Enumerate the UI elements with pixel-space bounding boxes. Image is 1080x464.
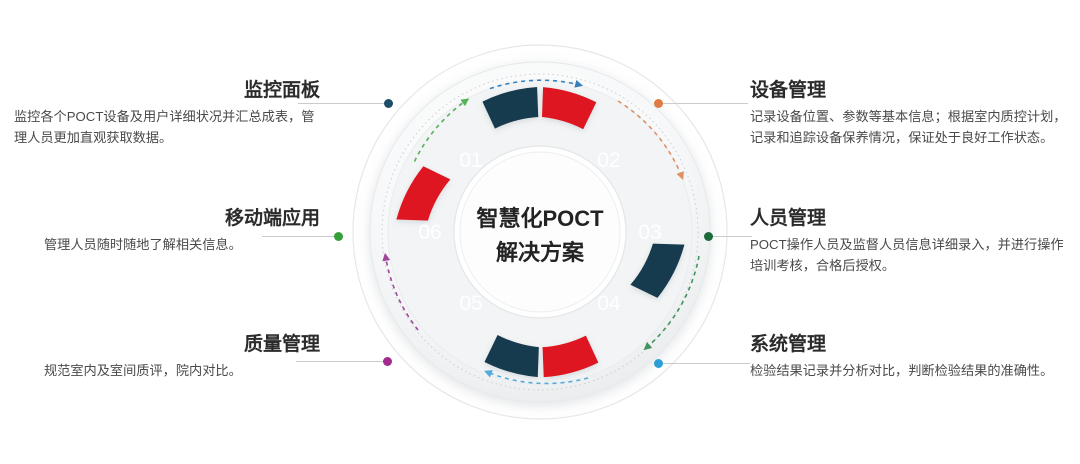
segment-number-01: 01 (459, 149, 482, 172)
info-body-monitoring-panel: 监控各个POCT设备及用户详细状况并汇总成表，管理人员更加直观获取数据。 (14, 106, 320, 149)
connector-dot-06 (334, 232, 343, 241)
wheel-svg: 01 02 03 04 05 06 智慧化POCT 解决方案 (330, 20, 750, 444)
info-block-monitoring-panel: 监控面板 监控各个POCT设备及用户详细状况并汇总成表，管理人员更加直观获取数据… (14, 80, 320, 149)
segment-number-03: 03 (638, 221, 661, 244)
info-body-mobile-app: 管理人员随时随地了解相关信息。 (44, 234, 320, 255)
segment-number-04: 04 (597, 292, 621, 315)
info-title-personnel-management: 人员管理 (750, 208, 1070, 230)
info-body-system-management: 检验结果记录并分析对比，判断检验结果的准确性。 (750, 360, 1070, 381)
connector-dot-04 (654, 359, 663, 368)
connector-line-03 (708, 236, 752, 237)
poct-wheel-diagram: 01 02 03 04 05 06 智慧化POCT 解决方案 (330, 20, 750, 444)
info-body-quality-management: 规范室内及室间质评，院内对比。 (44, 360, 320, 381)
connector-dot-01 (384, 99, 393, 108)
info-body-personnel-management: POCT操作人员及监督人员信息详细录入，并进行操作培训考核，合格后授权。 (750, 234, 1070, 277)
connector-dot-05 (383, 357, 392, 366)
connector-dot-02 (654, 99, 663, 108)
center-title-line2: 解决方案 (496, 240, 585, 265)
segment-number-06: 06 (418, 221, 441, 244)
connector-line-04 (658, 363, 750, 364)
diagram-canvas: 01 02 03 04 05 06 智慧化POCT 解决方案 监控面板 监控各个… (0, 0, 1080, 464)
segment-number-05: 05 (459, 292, 482, 315)
info-title-system-management: 系统管理 (750, 334, 1070, 356)
info-block-mobile-app: 移动端应用 管理人员随时随地了解相关信息。 (44, 208, 320, 255)
info-block-device-management: 设备管理 记录设备位置、参数等基本信息；根据室内质控计划，记录和追踪设备保养情况… (750, 80, 1070, 149)
segment-number-02: 02 (597, 149, 620, 172)
info-block-personnel-management: 人员管理 POCT操作人员及监督人员信息详细录入，并进行操作培训考核，合格后授权… (750, 208, 1070, 277)
info-block-quality-management: 质量管理 规范室内及室间质评，院内对比。 (44, 334, 320, 381)
info-title-mobile-app: 移动端应用 (44, 208, 320, 230)
info-title-device-management: 设备管理 (750, 80, 1070, 102)
info-body-device-management: 记录设备位置、参数等基本信息；根据室内质控计划，记录和追踪设备保养情况，保证处于… (750, 106, 1070, 149)
info-block-system-management: 系统管理 检验结果记录并分析对比，判断检验结果的准确性。 (750, 334, 1070, 381)
center-disc-inner (460, 152, 620, 312)
connector-line-02 (660, 103, 748, 104)
info-title-monitoring-panel: 监控面板 (14, 80, 320, 102)
info-title-quality-management: 质量管理 (44, 334, 320, 356)
center-title-line1: 智慧化POCT (476, 206, 604, 231)
connector-dot-03 (704, 232, 713, 241)
